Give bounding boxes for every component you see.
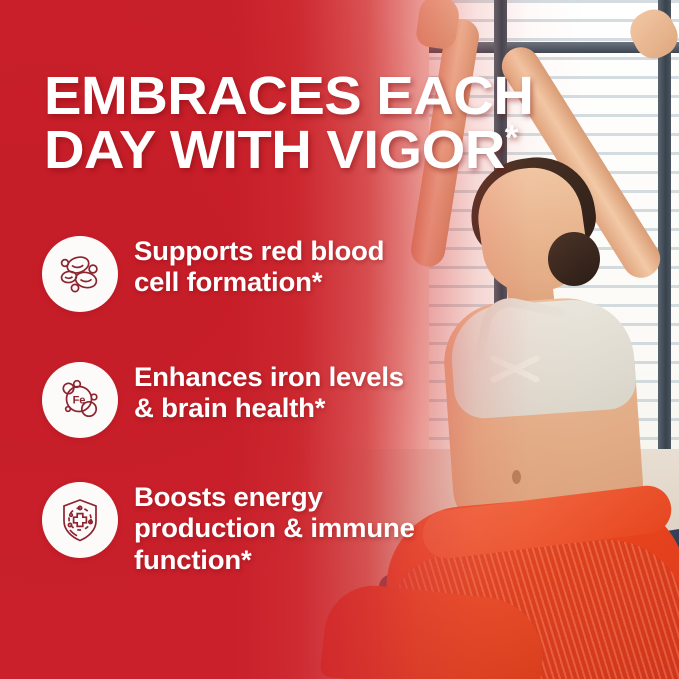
headline-asterisk: * — [505, 119, 518, 157]
list-item-label: Supports red blood cell formation* — [134, 232, 384, 299]
iron-fe-molecule-icon: Fe — [42, 362, 118, 438]
list-item: Supports red blood cell formation* — [0, 232, 440, 328]
list-item: Boosts energy production & immune functi… — [0, 478, 440, 576]
shield-immune-cross-icon — [42, 482, 118, 558]
red-blood-cells-icon — [42, 236, 118, 312]
list-item: Fe Enhances iron levels & brain health* — [0, 358, 440, 454]
product-benefit-banner: EMBRACES EACH DAY WITH VIGOR* — [0, 0, 679, 679]
headline: EMBRACES EACH DAY WITH VIGOR* — [44, 70, 668, 177]
list-item-label: Boosts energy production & immune functi… — [134, 478, 415, 576]
svg-text:Fe: Fe — [73, 395, 86, 407]
benefit-list: Supports red blood cell formation* Fe En — [0, 232, 440, 602]
headline-text: EMBRACES EACH DAY WITH VIGOR — [44, 66, 533, 180]
banner-content: EMBRACES EACH DAY WITH VIGOR* — [0, 0, 679, 679]
list-item-label: Enhances iron levels & brain health* — [134, 358, 404, 425]
